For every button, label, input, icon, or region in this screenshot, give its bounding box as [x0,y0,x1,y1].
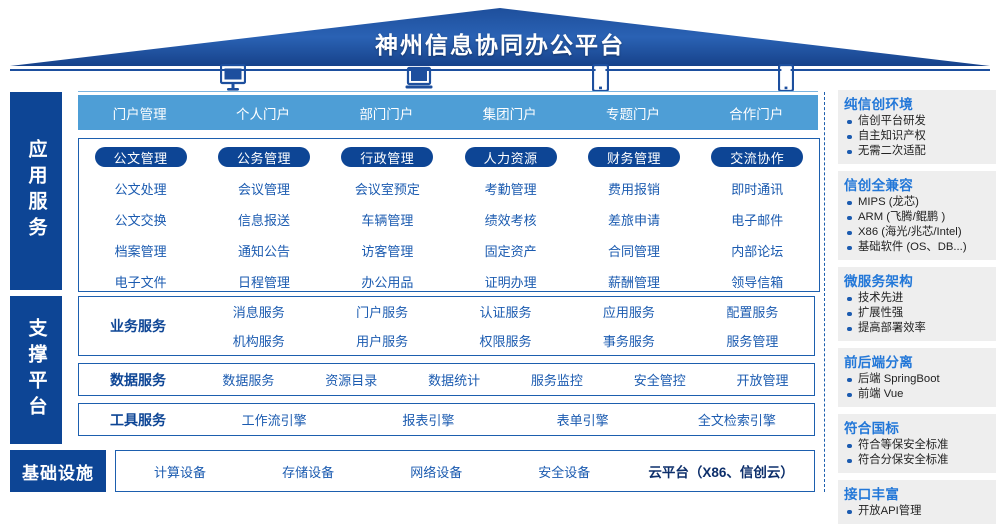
sidebar-list-item: 开放API管理 [844,504,992,519]
sidebar-list-item: X86 (海光/兆芯/Intel) [844,225,992,240]
data-services-title: 数据服务 [79,370,197,390]
service-item[interactable]: 表单引擎 [506,410,660,429]
sidebar-section-national-standards: 符合国标 符合等保安全标准 符合分保安全标准 [838,414,996,473]
sidebar-section-microservice: 微服务架构 技术先进 扩展性强 提高部署效率 [838,267,996,341]
infrastructure-cloud-platform[interactable]: 云平台（X86、信创云） [628,461,814,481]
business-services-grid: 消息服务 门户服务 认证服务 应用服务 配置服务 机构服务 用户服务 权限服务 … [197,297,814,355]
infrastructure-item[interactable]: 存储设备 [244,462,372,481]
app-column-title[interactable]: 公务管理 [218,147,310,167]
business-services-row: 业务服务 消息服务 门户服务 认证服务 应用服务 配置服务 机构服务 用户服务 … [78,296,815,356]
service-item[interactable]: 数据统计 [403,370,506,389]
service-item[interactable]: 配置服务 [691,302,814,321]
sidebar-list-item: 前端 Vue [844,387,992,402]
business-services-subrow: 消息服务 门户服务 认证服务 应用服务 配置服务 [197,297,814,326]
app-item[interactable]: 领导信箱 [731,272,783,291]
service-item[interactable]: 工作流引擎 [197,410,351,429]
app-item[interactable]: 电子邮件 [731,210,783,229]
infrastructure-item[interactable]: 安全设备 [500,462,628,481]
portal-item[interactable]: 专题门户 [571,103,694,123]
sidebar-list-item: 符合分保安全标准 [844,453,992,468]
business-services-subrow: 机构服务 用户服务 权限服务 事务服务 服务管理 [197,326,814,355]
sidebar-section-title: 微服务架构 [844,270,992,290]
rail-label-application-services: 应用服务 [10,92,62,290]
sidebar-section-list: 开放API管理 [844,504,992,519]
portal-item[interactable]: 集团门户 [448,103,571,123]
service-item[interactable]: 认证服务 [444,302,567,321]
portal-item[interactable]: 合作门户 [695,103,818,123]
page-title: 神州信息协同办公平台 [0,26,1000,60]
sidebar-section-frontend-backend-separation: 前后端分离 后端 SpringBoot 前端 Vue [838,348,996,407]
laptop-icon [405,66,433,92]
service-item[interactable]: 应用服务 [567,302,690,321]
service-item[interactable]: 事务服务 [567,331,690,350]
application-services-panel: 公文管理 公文处理 公文交换 档案管理 电子文件 公务管理 会议管理 信息报送 … [78,138,820,292]
infrastructure-item[interactable]: 网络设备 [372,462,500,481]
tool-services-grid: 工作流引擎 报表引擎 表单引擎 全文检索引擎 [197,404,814,435]
tablet-icon [592,64,609,92]
sidebar-section-list: 技术先进 扩展性强 提高部署效率 [844,291,992,336]
service-item[interactable]: 门户服务 [320,302,443,321]
app-item[interactable]: 办公用品 [361,272,413,291]
sidebar-list-item: 扩展性强 [844,306,992,321]
sidebar-list-item: MIPS (龙芯) [844,195,992,210]
app-column: 公文管理 公文处理 公文交换 档案管理 电子文件 [79,139,202,291]
device-row-underline [78,91,818,92]
app-column: 人力资源 考勤管理 绩效考核 固定资产 证明办理 [449,139,572,291]
device-icon-row [78,62,818,92]
app-column-title[interactable]: 公文管理 [95,147,187,167]
service-item[interactable]: 开放管理 [711,370,814,389]
app-column-title[interactable]: 人力资源 [465,147,557,167]
app-item[interactable]: 会议室预定 [355,179,420,198]
sidebar-section-title: 信创全兼容 [844,174,992,194]
sidebar-section-list: MIPS (龙芯) ARM (飞腾/鲲鹏 ) X86 (海光/兆芯/Intel)… [844,195,992,255]
service-item[interactable]: 服务管理 [691,331,814,350]
app-item[interactable]: 差旅申请 [608,210,660,229]
features-sidebar: 纯信创环境 信创平台研发 自主知识产权 无需二次适配 信创全兼容 MIPS (龙… [838,90,996,531]
tool-services-subrow: 工作流引擎 报表引擎 表单引擎 全文检索引擎 [197,404,814,435]
service-item[interactable]: 用户服务 [320,331,443,350]
sidebar-section-title: 纯信创环境 [844,93,992,113]
data-services-row: 数据服务 数据服务 资源目录 数据统计 服务监控 安全管控 开放管理 [78,363,815,396]
service-item[interactable]: 报表引擎 [351,410,505,429]
service-item[interactable]: 安全管控 [608,370,711,389]
service-item[interactable]: 数据服务 [197,370,300,389]
sidebar-section-title: 接口丰富 [844,483,992,503]
app-item[interactable]: 信息报送 [238,210,290,229]
sidebar-list-item: 后端 SpringBoot [844,372,992,387]
service-item[interactable]: 服务监控 [505,370,608,389]
app-item[interactable]: 会议管理 [238,179,290,198]
diagram-root: 神州信息协同办公平台 [0,0,1000,500]
app-item[interactable]: 证明办理 [485,272,537,291]
app-item[interactable]: 日程管理 [238,272,290,291]
app-item[interactable]: 公文处理 [115,179,167,198]
vertical-dashed-divider [824,92,825,492]
service-item[interactable]: 全文检索引擎 [660,410,814,429]
app-column: 公务管理 会议管理 信息报送 通知公告 日程管理 [202,139,325,291]
sidebar-list-item: 基础软件 (OS、DB...) [844,240,992,255]
app-column-title[interactable]: 交流协作 [711,147,803,167]
service-item[interactable]: 机构服务 [197,331,320,350]
app-item[interactable]: 公文交换 [115,210,167,229]
sidebar-list-item: ARM (飞腾/鲲鹏 ) [844,210,992,225]
service-item[interactable]: 消息服务 [197,302,320,321]
sidebar-list-item: 提高部署效率 [844,321,992,336]
sidebar-section-pure-xinchuang: 纯信创环境 信创平台研发 自主知识产权 无需二次适配 [838,90,996,164]
sidebar-list-item: 技术先进 [844,291,992,306]
app-item[interactable]: 合同管理 [608,241,660,260]
sidebar-section-list: 后端 SpringBoot 前端 Vue [844,372,992,402]
smartphone-icon [778,64,794,92]
app-item[interactable]: 固定资产 [485,241,537,260]
rail-label-support-platform: 支撑平台 [10,296,62,444]
app-item[interactable]: 电子文件 [115,272,167,291]
data-services-subrow: 数据服务 资源目录 数据统计 服务监控 安全管控 开放管理 [197,364,814,395]
infrastructure-row: 计算设备 存储设备 网络设备 安全设备 云平台（X86、信创云） [115,450,815,492]
app-column: 交流协作 即时通讯 电子邮件 内部论坛 领导信箱 [696,139,819,291]
sidebar-section-list: 符合等保安全标准 符合分保安全标准 [844,438,992,468]
app-column: 财务管理 费用报销 差旅申请 合同管理 薪酬管理 [572,139,695,291]
app-item[interactable]: 通知公告 [238,241,290,260]
sidebar-section-title: 符合国标 [844,417,992,437]
app-item[interactable]: 薪酬管理 [608,272,660,291]
sidebar-list-item: 信创平台研发 [844,114,992,129]
desktop-monitor-icon [220,64,246,92]
tool-services-title: 工具服务 [79,410,197,430]
sidebar-list-item: 自主知识产权 [844,129,992,144]
app-item[interactable]: 考勤管理 [485,179,537,198]
infrastructure-item[interactable]: 计算设备 [116,462,244,481]
app-item[interactable]: 内部论坛 [731,241,783,260]
app-column-title[interactable]: 行政管理 [341,147,433,167]
rail-label-infrastructure: 基础设施 [10,450,106,492]
app-item[interactable]: 绩效考核 [485,210,537,229]
data-services-grid: 数据服务 资源目录 数据统计 服务监控 安全管控 开放管理 [197,364,814,395]
app-item[interactable]: 费用报销 [608,179,660,198]
app-item[interactable]: 即时通讯 [731,179,783,198]
sidebar-section-title: 前后端分离 [844,351,992,371]
app-item[interactable]: 车辆管理 [361,210,413,229]
sidebar-section-full-compatibility: 信创全兼容 MIPS (龙芯) ARM (飞腾/鲲鹏 ) X86 (海光/兆芯/… [838,171,996,260]
service-item[interactable]: 权限服务 [444,331,567,350]
app-item[interactable]: 档案管理 [115,241,167,260]
sidebar-section-rich-interfaces: 接口丰富 开放API管理 [838,480,996,524]
tool-services-row: 工具服务 工作流引擎 报表引擎 表单引擎 全文检索引擎 [78,403,815,436]
app-item[interactable]: 访客管理 [361,241,413,260]
portal-item[interactable]: 部门门户 [325,103,448,123]
business-services-title: 业务服务 [79,316,197,336]
sidebar-list-item: 符合等保安全标准 [844,438,992,453]
app-column: 行政管理 会议室预定 车辆管理 访客管理 办公用品 [326,139,449,291]
app-column-title[interactable]: 财务管理 [588,147,680,167]
sidebar-section-list: 信创平台研发 自主知识产权 无需二次适配 [844,114,992,159]
portal-item[interactable]: 门户管理 [78,103,201,123]
portal-item[interactable]: 个人门户 [201,103,324,123]
portal-bar: 门户管理 个人门户 部门门户 集团门户 专题门户 合作门户 [78,95,818,130]
service-item[interactable]: 资源目录 [300,370,403,389]
sidebar-list-item: 无需二次适配 [844,144,992,159]
